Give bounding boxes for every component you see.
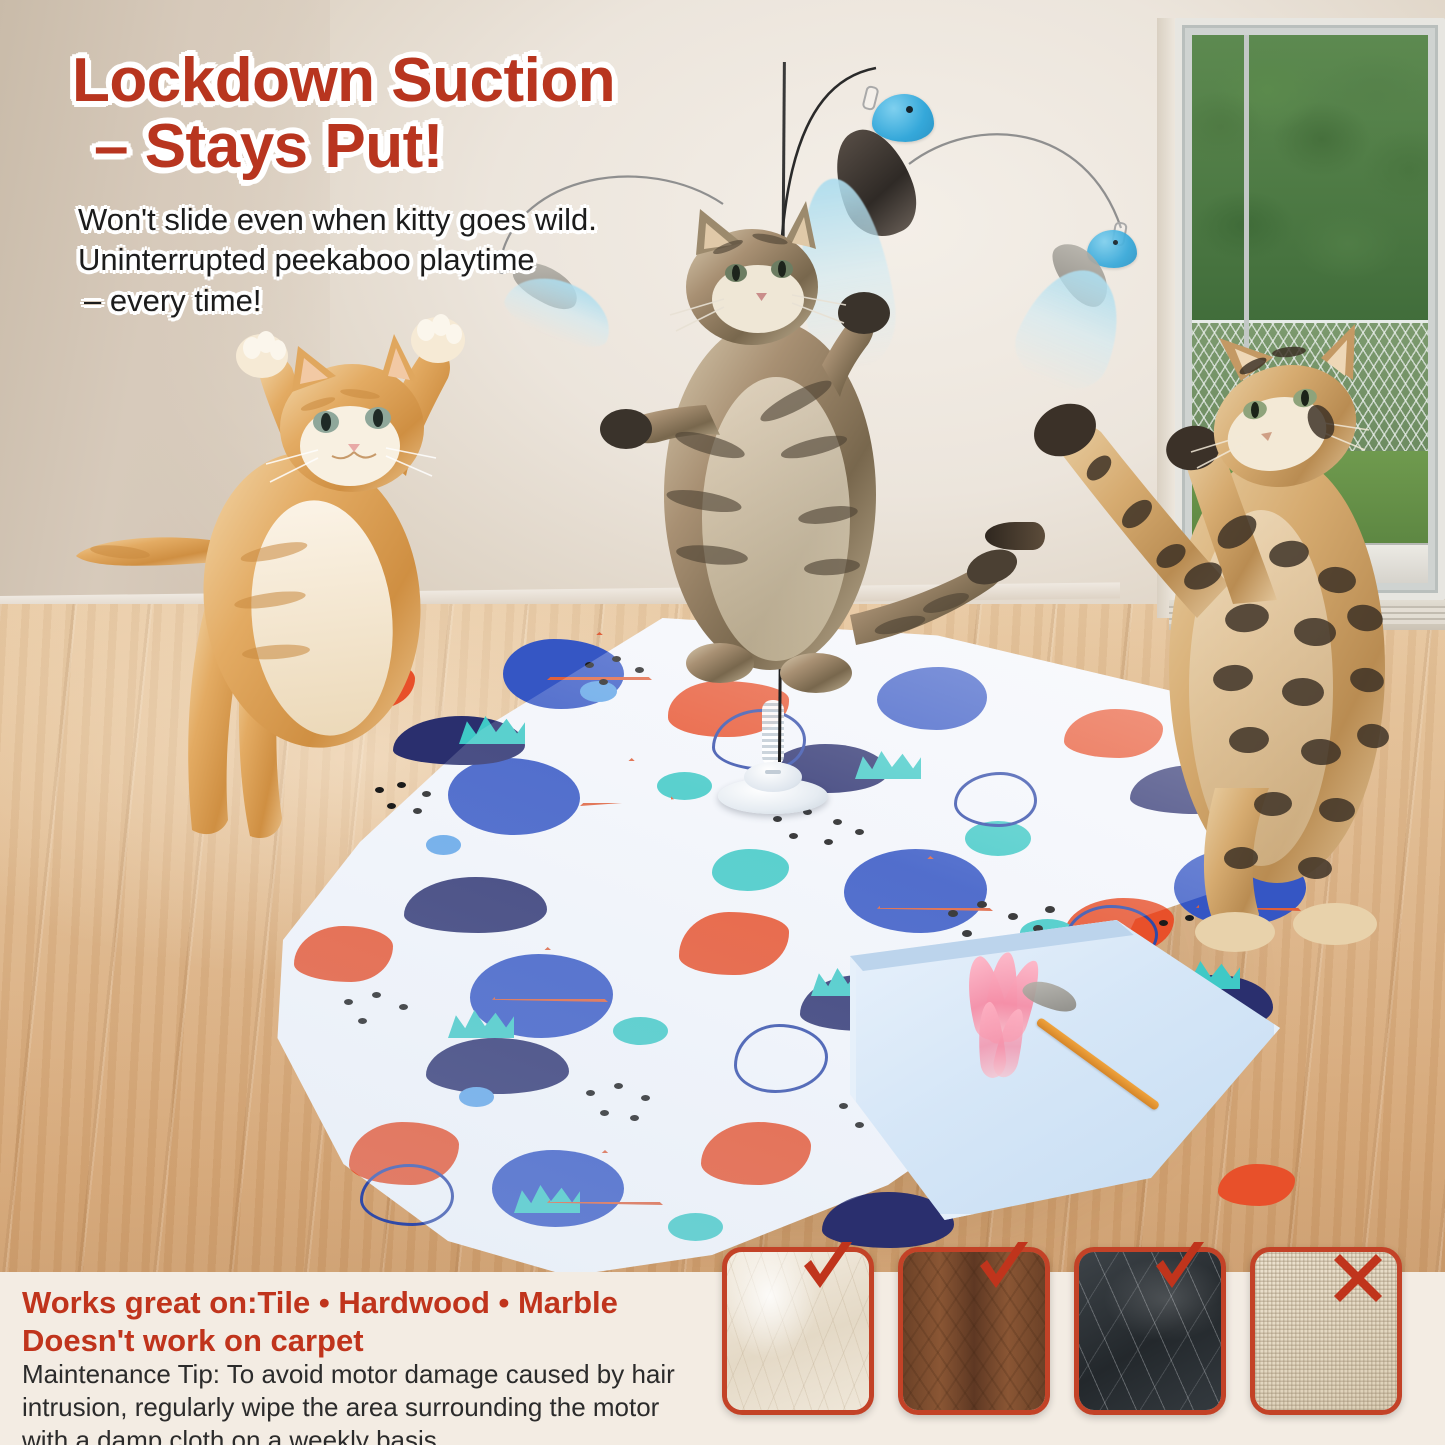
motor-cap [744,762,802,792]
cat-tail-tip [985,522,1045,550]
maintenance-line-1: Maintenance Tip: To avoid motor damage c… [22,1358,687,1391]
surface-fails-line: Doesn't work on carpet [22,1322,702,1360]
wand-stick [1035,1017,1160,1111]
maintenance-tip-text: Maintenance Tip: To avoid motor damage c… [22,1358,687,1445]
cat-orange-tabby [60,300,510,860]
cat-bengal [985,318,1430,958]
cross-icon-carpet [1330,1250,1386,1306]
surface-compatibility-title: Works great on:Tile • Hardwood • Marble … [22,1284,702,1360]
suction-motor-hub [718,760,828,814]
check-icon-marble [1148,1240,1214,1306]
maintenance-line-3: with a damp cloth on a weekly basis. [22,1424,687,1445]
subhead-line-1: Won't slide even when kitty goes wild. [78,200,678,240]
surface-works-line: Works great on:Tile • Hardwood • Marble [22,1284,702,1322]
motor-slot [765,770,781,774]
page-subheadline: Won't slide even when kitty goes wild. U… [78,200,678,321]
pink-feather-wand [960,950,1180,1140]
maintenance-line-2: intrusion, regularly wipe the area surro… [22,1391,687,1424]
check-icon-tile [796,1240,862,1306]
subhead-line-2: Uninterrupted peekaboo playtime [78,240,678,280]
product-marketing-image: Lockdown Suction – Stays Put! Won't slid… [0,0,1445,1445]
subhead-line-3: – every time! [78,281,678,321]
trees [1192,35,1428,342]
headline-line-1: Lockdown Suction [72,46,615,115]
check-icon-hardwood [972,1240,1038,1306]
headline-line-2: – Stays Put! [72,114,772,180]
page-headline: Lockdown Suction – Stays Put! [72,48,772,179]
